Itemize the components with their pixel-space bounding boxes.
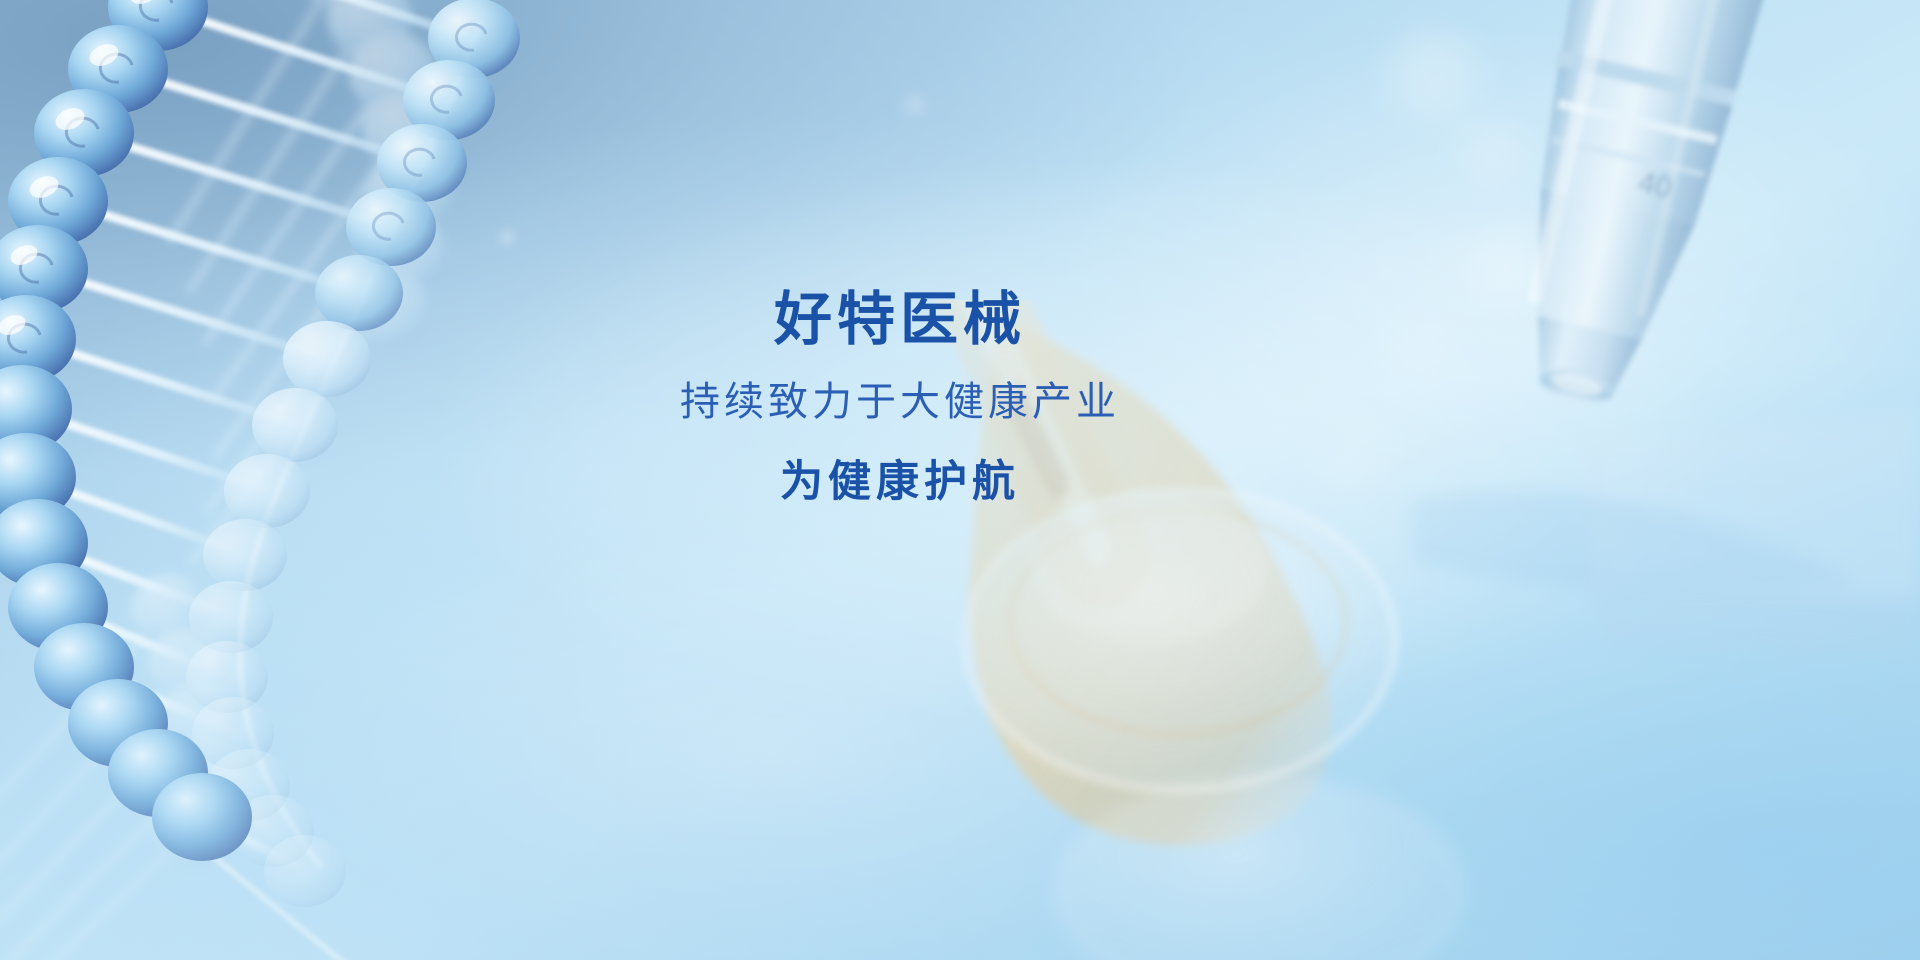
hero-subtitle: 持续致力于大健康产业 [0,376,1800,428]
hero-text-block: 好特医械 持续致力于大健康产业 为健康护航 [0,286,1920,510]
hero-tagline: 为健康护航 [0,456,1800,510]
banner-hero: 40 [0,0,1920,960]
bokeh-highlight [905,95,925,115]
page-title: 好特医械 [0,286,1800,354]
